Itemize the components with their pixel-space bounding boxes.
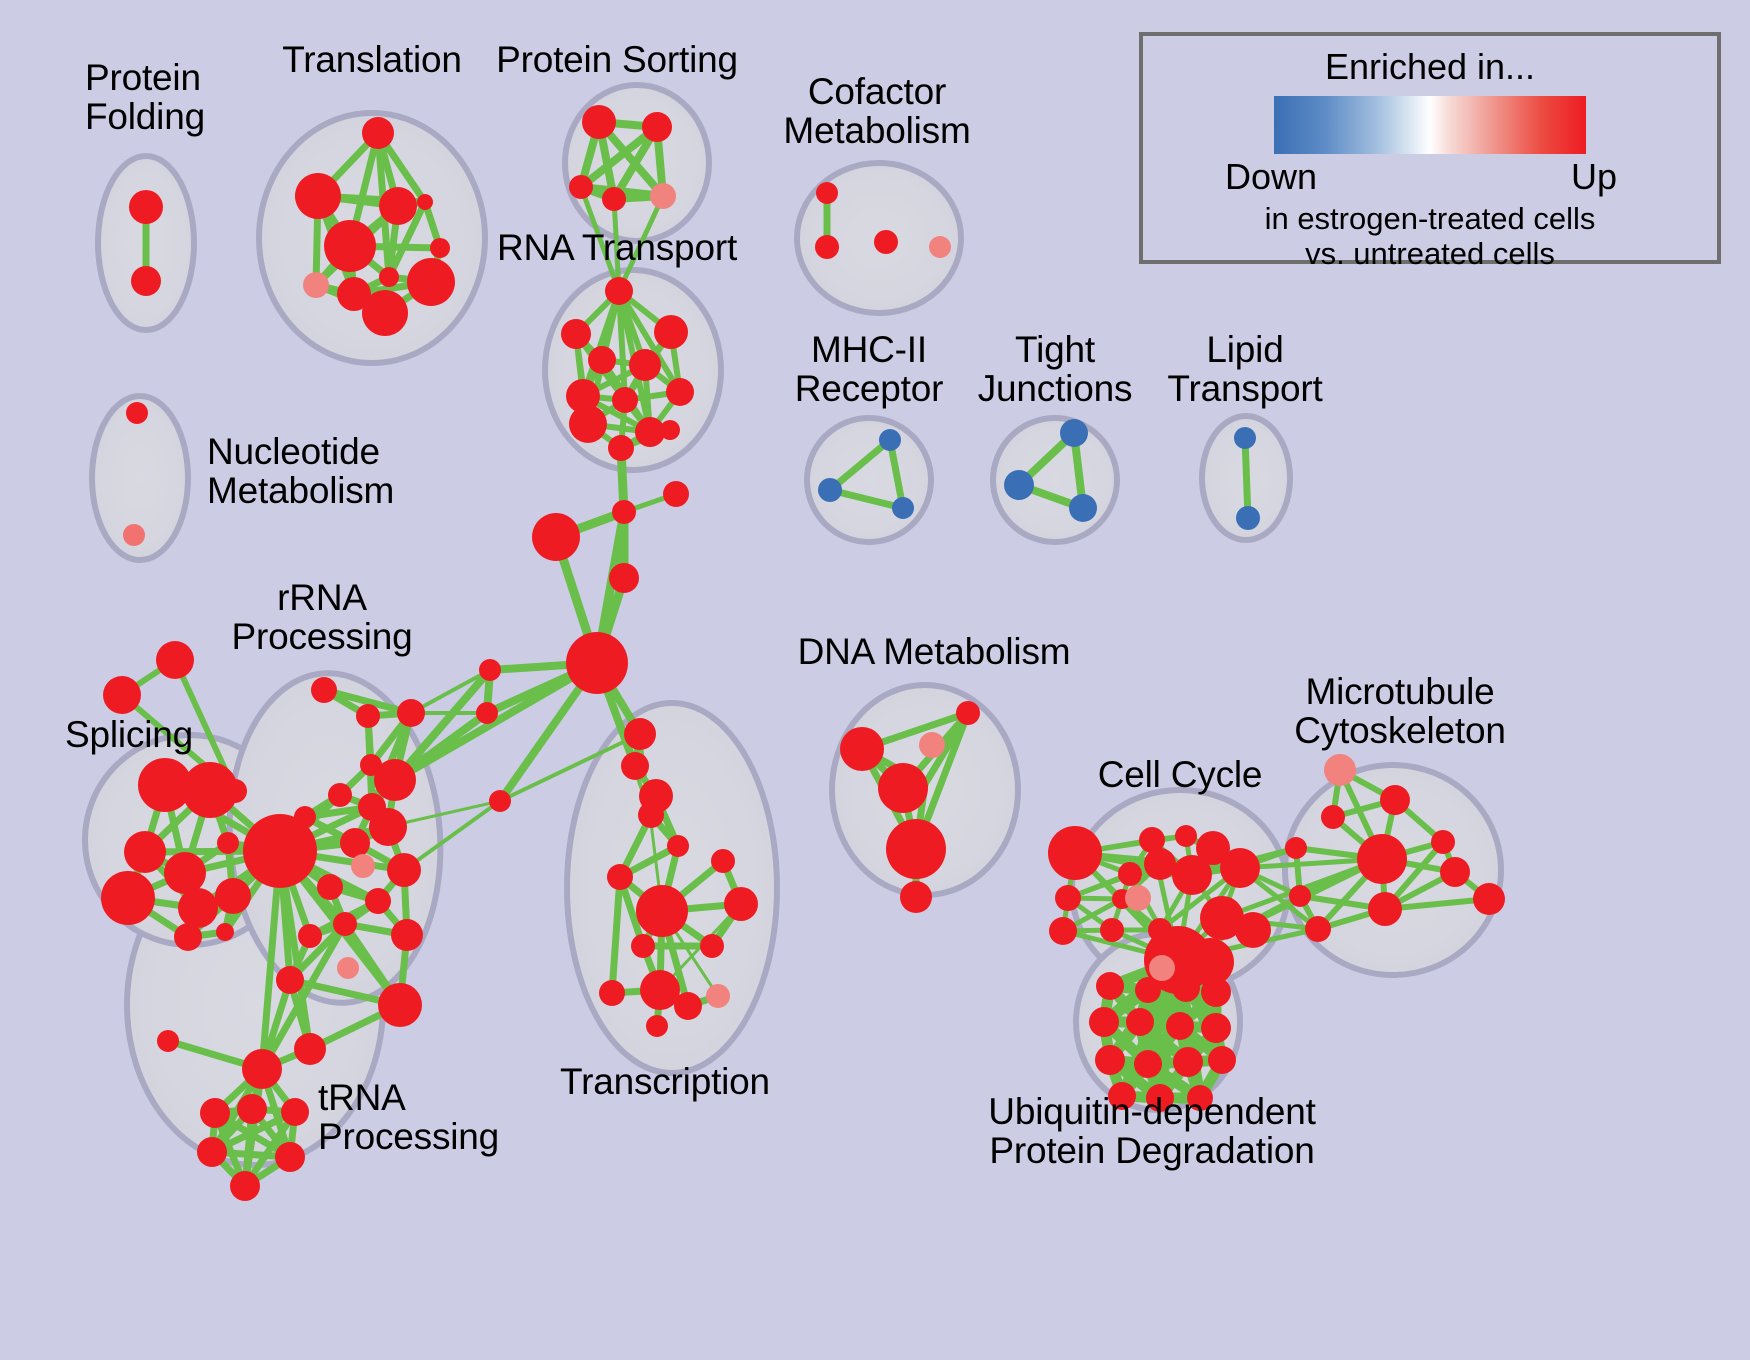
node [588,346,616,374]
node [642,112,672,142]
node [340,828,370,858]
node [101,871,155,925]
node [1095,1045,1125,1075]
node [919,732,945,758]
node [636,885,688,937]
node [178,888,218,928]
node [124,831,166,873]
node [1100,918,1124,942]
cluster-label-ubiquitin-degradation: Ubiquitin-dependent Protein Degradation [988,1092,1315,1170]
node [599,980,625,1006]
node [1069,494,1097,522]
node [1220,848,1260,888]
cluster-label-translation: Translation [282,40,461,79]
node [365,888,391,914]
node [242,1049,282,1089]
node [369,808,407,846]
node [489,790,511,812]
node [237,1094,267,1124]
node [333,912,357,936]
node [1324,754,1356,786]
node [1004,470,1034,500]
node [197,1137,227,1167]
node [1305,916,1331,942]
node [532,513,580,561]
node [417,194,433,210]
legend-subtitle: in estrogen-treated cells vs. untreated … [1143,202,1717,271]
node [391,919,423,951]
node [215,878,251,914]
node [1234,427,1256,449]
node [582,105,616,139]
node [1134,1050,1162,1078]
node [1289,885,1311,907]
node [1149,955,1175,981]
node [379,187,417,225]
enrichment-map-figure: Protein Folding Translation Protein Sort… [0,0,1750,1360]
node [700,934,724,958]
node [1201,1013,1231,1043]
legend-down-label: Down [1225,156,1317,198]
node [612,387,638,413]
node [1440,857,1470,887]
node [566,632,628,694]
node [612,500,636,524]
node [351,854,375,878]
node [1118,862,1142,886]
node [706,984,730,1008]
cluster-label-splicing: Splicing [65,715,193,754]
node [129,190,163,224]
legend-subtitle-line-2: vs. untreated cells [1143,237,1717,272]
cluster-label-rna-transport: RNA Transport [497,228,737,267]
node [886,819,946,879]
node [674,992,702,1020]
legend-up-label: Up [1571,156,1617,198]
node [638,802,664,828]
node [476,702,498,724]
node [216,923,234,941]
node [328,783,352,807]
node [569,405,607,443]
node [1166,1012,1194,1040]
node [608,435,634,461]
node [602,187,626,211]
node [1235,912,1271,948]
cluster-label-protein-folding: Protein Folding [85,58,205,136]
cluster-label-transcription: Transcription [560,1062,770,1101]
cluster-label-microtubule-cytoskeleton: Microtubule Cytoskeleton [1294,672,1506,750]
node [217,832,239,854]
node [1285,837,1307,859]
node [479,659,501,681]
node [640,970,680,1010]
node [298,924,322,948]
node [295,173,341,219]
node [243,814,317,888]
node [1368,892,1402,926]
node [1096,972,1124,1000]
node [815,235,839,259]
legend-subtitle-line-1: in estrogen-treated cells [1143,202,1717,237]
node [311,677,337,703]
node [1175,825,1197,847]
node [1049,917,1077,945]
node [1135,977,1161,1003]
node [1089,1007,1119,1037]
node [1380,785,1410,815]
node [624,718,656,750]
node [1172,855,1212,895]
node [1357,834,1407,884]
node [126,402,148,424]
node [275,1142,305,1172]
node [667,835,689,857]
node [1173,1047,1203,1077]
node [900,881,932,913]
node [182,762,238,818]
node [631,934,655,958]
node [609,563,639,593]
node [362,117,394,149]
node [818,478,842,502]
node [816,182,838,204]
node [561,319,591,349]
node [379,267,399,287]
node [157,1030,179,1052]
node [878,763,928,813]
node [663,481,689,507]
legend-endpoint-labels: Down Up [1215,156,1645,200]
cluster-label-rrna-processing: rRNA Processing [231,578,412,656]
node [874,230,898,254]
node [387,853,421,887]
node [1236,506,1260,530]
cluster-label-trna-processing: tRNA Processing [318,1078,499,1156]
legend-title: Enriched in... [1143,46,1717,88]
legend-color-gradient-bar [1274,96,1586,154]
node [397,699,425,727]
node [174,923,202,951]
node [1125,885,1151,911]
node [200,1098,230,1128]
node [1201,977,1231,1007]
node [929,236,951,258]
node [1208,1046,1236,1074]
node [430,238,450,258]
cluster-label-tight-junctions: Tight Junctions [978,330,1133,408]
node [569,175,593,199]
cluster-label-dna-metabolism: DNA Metabolism [798,632,1071,671]
node [1144,848,1176,880]
node [724,887,758,921]
node [303,272,329,298]
node [1048,826,1102,880]
cluster-label-protein-sorting: Protein Sorting [496,40,738,79]
node [164,852,206,894]
node [131,266,161,296]
cluster-label-lipid-transport: Lipid Transport [1167,330,1322,408]
node [654,315,688,349]
node [356,704,380,728]
cluster-label-mhc-ii-receptor: MHC-II Receptor [795,330,944,408]
cluster-label-cofactor-metabolism: Cofactor Metabolism [783,72,970,150]
node [337,957,359,979]
node [892,497,914,519]
node [646,1015,668,1037]
node [607,864,633,890]
node [378,983,422,1027]
node [840,727,884,771]
node [281,1098,309,1126]
node [123,524,145,546]
legend-panel: Enriched in... Down Up in estrogen-treat… [1139,32,1721,264]
node [1172,974,1200,1002]
node [317,874,343,900]
node [324,220,376,272]
node [621,752,649,780]
node [407,258,455,306]
node [374,759,416,801]
node [230,1171,260,1201]
cluster-label-nucleotide-metabolism: Nucleotide Metabolism [207,432,394,510]
node [660,420,680,440]
node [605,277,633,305]
node [1055,885,1081,911]
node [276,966,304,994]
node [956,701,980,725]
node [103,676,141,714]
node [711,849,735,873]
node [1431,830,1455,854]
node [1060,419,1088,447]
node [629,349,661,381]
node [156,641,194,679]
node [294,1033,326,1065]
node [879,429,901,451]
node [362,290,408,336]
node [1473,883,1505,915]
cluster-label-cell-cycle: Cell Cycle [1098,755,1263,794]
node [666,378,694,406]
node [1126,1008,1154,1036]
node [1321,805,1345,829]
node [650,183,676,209]
